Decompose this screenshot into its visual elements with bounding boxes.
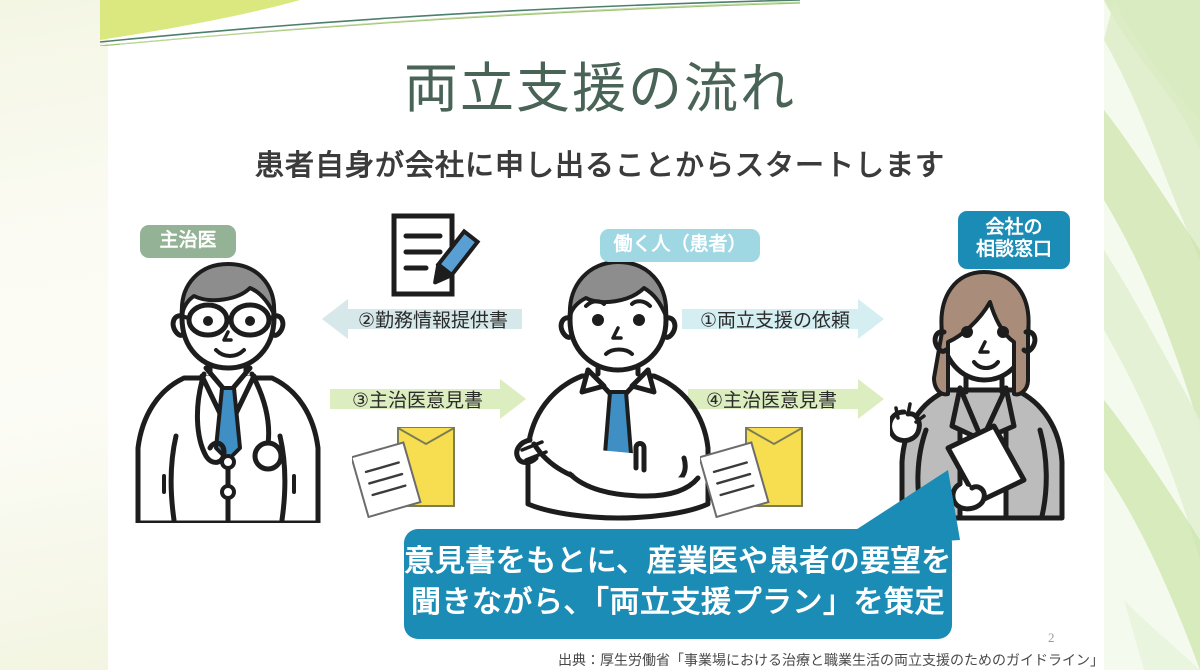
- role-badge-doctor: 主治医: [140, 225, 236, 258]
- doctor-illustration: [118, 248, 338, 528]
- flow-arrow-2-label: ②勤務情報提供書: [358, 306, 508, 333]
- source-citation: 出典：厚生労働省「事業場における治療と職業生活の両立支援のためのガイドライン」: [0, 650, 1104, 670]
- role-badge-patient-label: 働く人（患者）: [613, 234, 746, 255]
- callout-line-2: 聞きながら、「両立支援プラン」を策定: [404, 583, 952, 624]
- callout-box: 意見書をもとに、産業医や患者の要望を 聞きながら、「両立支援プラン」を策定: [404, 529, 952, 639]
- page-number: 2: [1048, 630, 1055, 646]
- role-badge-company-line2: 相談窓口: [958, 239, 1070, 261]
- role-badge-doctor-label: 主治医: [159, 230, 216, 251]
- page-subtitle: 患者自身が会社に申し出ることからスタートします: [0, 142, 1200, 184]
- flow-arrow-3: ③主治医意見書: [330, 379, 526, 419]
- documents-envelope-icon-left: [352, 418, 462, 523]
- flow-arrow-3-label: ③主治医意見書: [352, 386, 483, 413]
- role-badge-patient: 働く人（患者）: [600, 229, 760, 262]
- patient-illustration: [508, 252, 728, 527]
- page-title: 両立支援の流れ: [0, 44, 1200, 123]
- callout-line-1: 意見書をもとに、産業医や患者の要望を: [404, 542, 952, 583]
- top-swoosh-decoration: [100, 0, 800, 46]
- slide-canvas: 両立支援の流れ 患者自身が会社に申し出ることからスタートします ②勤務情報提供書…: [0, 0, 1200, 670]
- role-badge-company: 会社の 相談窓口: [958, 211, 1070, 269]
- role-badge-company-line1: 会社の: [958, 217, 1070, 239]
- document-with-pencil-icon: [382, 212, 482, 309]
- documents-envelope-icon-right: [700, 418, 810, 523]
